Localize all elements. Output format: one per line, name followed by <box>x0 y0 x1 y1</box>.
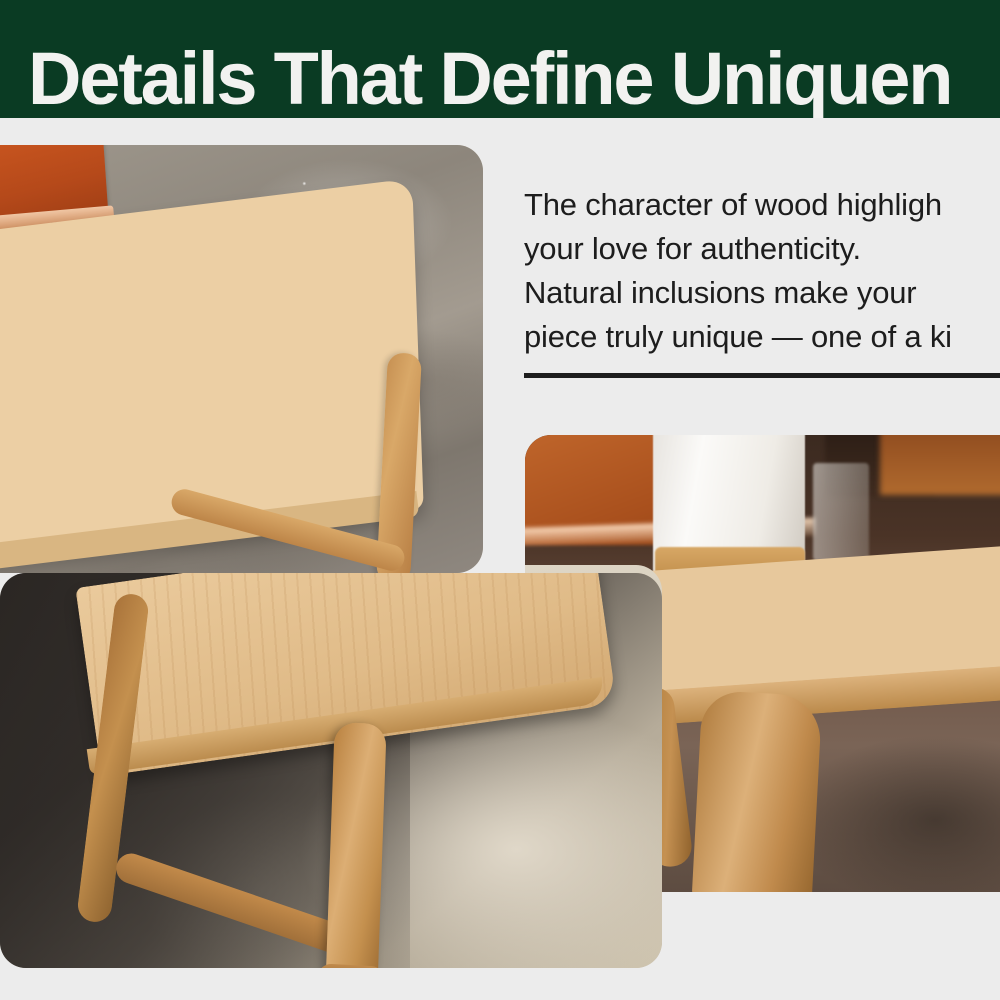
text-divider-rule <box>524 373 1000 378</box>
warm-wall-blur <box>880 435 1000 495</box>
oak-curved-leg-joint <box>692 690 823 892</box>
body-line-3: Natural inclusions make your <box>524 271 1000 315</box>
glass-object-blur <box>813 463 869 561</box>
body-line-2: your love for authenticity. <box>524 227 1000 271</box>
body-line-4: piece truly unique — one of a ki <box>524 315 1000 359</box>
gallery-image-sled-base-table-leg[interactable] <box>0 573 662 968</box>
body-line-1: The character of wood highligh <box>524 183 1000 227</box>
description-text-block: The character of wood highligh your love… <box>524 183 1000 359</box>
gallery-image-oak-table-corner-on-concrete[interactable] <box>0 145 483 573</box>
header-band: Details That Define Uniquen <box>0 0 1000 118</box>
poster-canvas: Details That Define Uniquen <box>0 0 1000 1000</box>
oak-sled-leg-front <box>325 722 386 968</box>
page-title: Details That Define Uniquen <box>28 38 951 118</box>
